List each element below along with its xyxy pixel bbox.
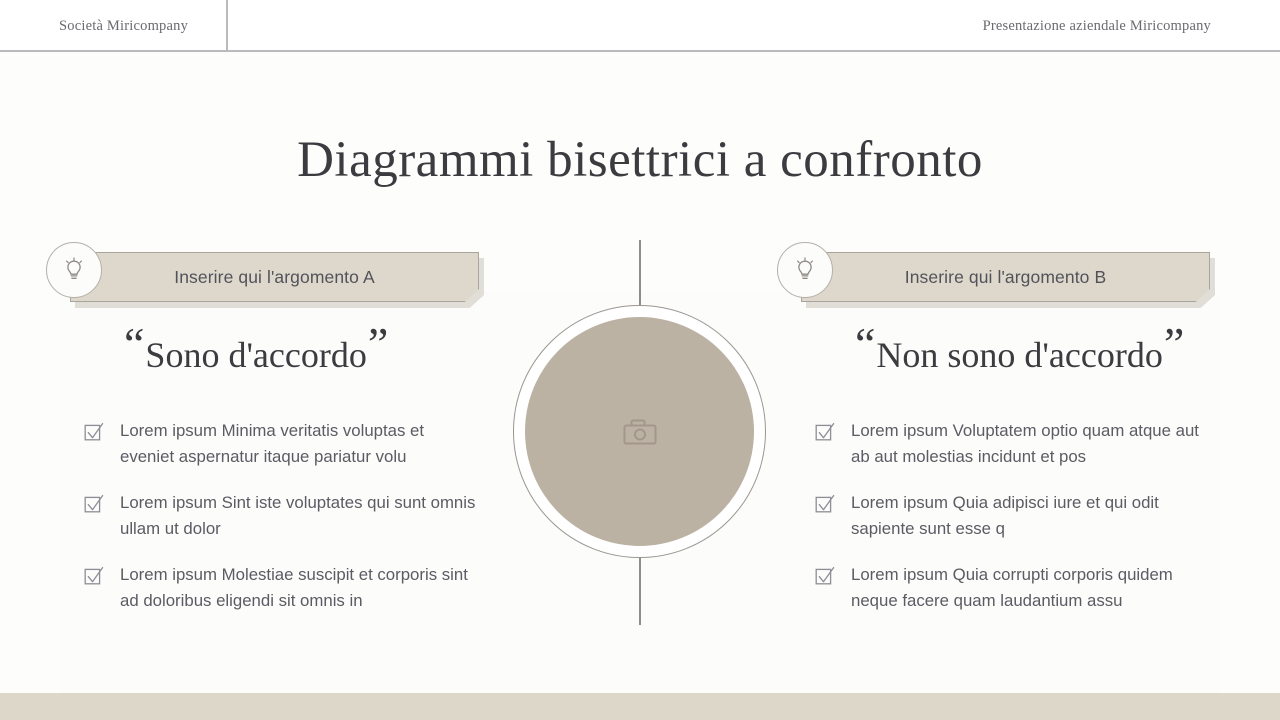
center-image-placeholder[interactable] <box>525 317 754 546</box>
checkbox-check-icon <box>84 422 104 444</box>
list-item-text: Lorem ipsum Quia adipisci iure et qui od… <box>851 490 1211 542</box>
checkbox-check-icon <box>815 494 835 516</box>
quote-text-b: Non sono d'accordo <box>876 334 1162 376</box>
camera-icon <box>622 416 658 448</box>
list-item-text: Lorem ipsum Sint iste voluptates qui sun… <box>120 490 480 542</box>
checkbox-check-icon <box>815 422 835 444</box>
header-company-name: Società Miricompany <box>59 18 188 35</box>
quote-text-a: Sono d'accordo <box>145 334 366 376</box>
topic-banner-b[interactable]: Inserire qui l'argomento B <box>801 252 1210 302</box>
header-divider <box>226 0 228 50</box>
list-item-text: Lorem ipsum Voluptatem optio quam atque … <box>851 418 1211 470</box>
list-item-text: Lorem ipsum Minima veritatis voluptas et… <box>120 418 480 470</box>
bullet-list-a: Lorem ipsum Minima veritatis voluptas et… <box>84 418 484 634</box>
slide-header: Società Miricompany Presentazione aziend… <box>0 0 1280 52</box>
bullet-list-b: Lorem ipsum Voluptatem optio quam atque … <box>815 418 1215 634</box>
list-item[interactable]: Lorem ipsum Quia adipisci iure et qui od… <box>815 490 1215 542</box>
banner-label-b: Inserire qui l'argomento B <box>801 252 1210 302</box>
banner-icon-badge-a <box>46 242 102 298</box>
list-item[interactable]: Lorem ipsum Sint iste voluptates qui sun… <box>84 490 484 542</box>
list-item[interactable]: Lorem ipsum Quia corrupti corporis quide… <box>815 562 1215 614</box>
list-item[interactable]: Lorem ipsum Molestiae suscipit et corpor… <box>84 562 484 614</box>
lightbulb-icon <box>792 256 818 284</box>
footer-bar <box>0 693 1280 720</box>
page-title: Diagrammi bisettrici a confronto <box>0 126 1280 194</box>
list-item-text: Lorem ipsum Molestiae suscipit et corpor… <box>120 562 480 614</box>
banner-label-a: Inserire qui l'argomento A <box>70 252 479 302</box>
slide: Società Miricompany Presentazione aziend… <box>0 0 1280 720</box>
checkbox-check-icon <box>815 566 835 588</box>
quote-heading-a: “ Sono d'accordo ” <box>124 334 388 376</box>
lightbulb-icon <box>61 256 87 284</box>
topic-banner-a[interactable]: Inserire qui l'argomento A <box>70 252 479 302</box>
list-item[interactable]: Lorem ipsum Minima veritatis voluptas et… <box>84 418 484 470</box>
list-item-text: Lorem ipsum Quia corrupti corporis quide… <box>851 562 1211 614</box>
quote-heading-b: “ Non sono d'accordo ” <box>855 334 1184 376</box>
header-presentation-name: Presentazione aziendale Miricompany <box>983 18 1211 35</box>
checkbox-check-icon <box>84 566 104 588</box>
checkbox-check-icon <box>84 494 104 516</box>
list-item[interactable]: Lorem ipsum Voluptatem optio quam atque … <box>815 418 1215 470</box>
banner-icon-badge-b <box>777 242 833 298</box>
